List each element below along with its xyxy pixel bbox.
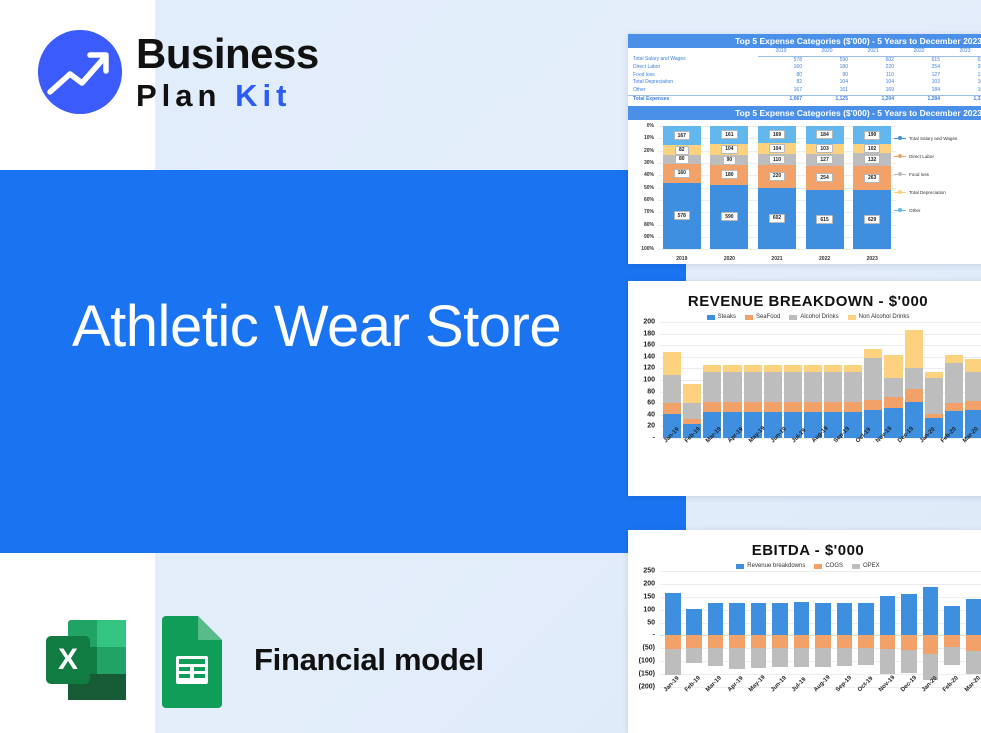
page-title: Athletic Wear Store (72, 292, 592, 363)
legend-item: Non Alcohol Drinks (848, 314, 910, 320)
bar-value-label: 180 (721, 170, 737, 179)
bar-segment: 160 (663, 164, 701, 182)
bar-segment: 578 (663, 183, 701, 250)
legend-item: Other (894, 208, 981, 213)
cell-value: 80 (758, 72, 804, 80)
growth-arrow-icon (38, 30, 122, 114)
brand-name-line2: Plan Kit (136, 80, 319, 111)
y-axis-tick: - (653, 632, 655, 639)
cell-value: 615 (896, 56, 942, 64)
bar-segment (723, 365, 741, 372)
screenshot-card-ebitda: EBITDA - $'000 Revenue breakdownsCOGSOPE… (628, 530, 981, 733)
ebitda-chart-plotarea: 25020015010050-(50)(100)(150)(200) Jan-1… (628, 571, 981, 721)
bar-segment (663, 352, 681, 376)
bar-value-label: 263 (864, 174, 880, 183)
y-axis-tick: 200 (643, 319, 655, 326)
legend-label: Total Salary and Wages (909, 136, 957, 141)
brand-logo: Business Plan Kit (38, 30, 319, 114)
legend-item: Revenue breakdowns (736, 563, 805, 569)
bar-segment (844, 402, 862, 412)
expense-stacked-chart: 0%10%20%30%40%50%60%70%80%90%100% 167828… (628, 120, 981, 264)
bar-value-label: 602 (769, 214, 785, 223)
bar-segment: 629 (853, 190, 891, 249)
microsoft-excel-icon: X (38, 612, 134, 708)
ebitda-chart-title: EBITDA - $'000 (628, 542, 981, 559)
legend-item: Total Depreciation (894, 190, 981, 195)
y-axis-tick: (200) (639, 684, 655, 691)
bar-value-label: 220 (769, 172, 785, 181)
stacked-bar (905, 322, 923, 438)
x-axis-tick: 2021 (758, 256, 796, 262)
bar-group: 1678280160578161104901805901691041102206… (658, 126, 896, 249)
cell-value: 110 (850, 72, 896, 80)
bar-segment: 110 (758, 154, 796, 165)
bar-value-label: 578 (674, 211, 690, 220)
legend-item: Alcohol Drinks (789, 314, 838, 320)
format-badges: X Financial model (38, 612, 484, 708)
legend-swatch (894, 192, 906, 194)
legend-swatch (894, 138, 906, 140)
bar-segment: 80 (663, 155, 701, 164)
stacked-bar (683, 322, 701, 438)
stacked-bar: 16110490180590 (710, 126, 748, 249)
bar-segment (824, 365, 842, 372)
bar-segment (764, 372, 782, 402)
cell-value: 103 (896, 79, 942, 87)
y-axis-tick: 90% (644, 234, 654, 240)
bar-value-label: 110 (769, 155, 785, 164)
cell-value: 132 (942, 72, 981, 80)
y-axis-tick: 100 (643, 606, 655, 613)
bar-segment (905, 330, 923, 368)
bar-segment (744, 372, 762, 402)
bar-segment (744, 402, 762, 412)
y-axis-tick: 50 (647, 619, 655, 626)
y-axis-tick: 250 (643, 568, 655, 575)
legend-item: OPEX (852, 563, 880, 569)
bar-value-label: 254 (816, 173, 832, 182)
bar-segment (784, 365, 802, 372)
bar-segment (884, 355, 902, 378)
bar-segment (884, 378, 902, 398)
bar-segment (824, 372, 842, 402)
bar-segment: 161 (710, 126, 748, 144)
stacked-bar (764, 322, 782, 438)
cell-value: 263 (942, 64, 981, 72)
table-row: Total Expenses1,0671,1251,2041,2841,316 (628, 95, 981, 103)
legend-label: Revenue breakdowns (747, 563, 805, 569)
y-axis-tick: 80% (644, 222, 654, 228)
expense-chart-legend: Total Salary and WagesDirect LaborFood l… (894, 136, 981, 213)
brand-plan-word: Plan (136, 78, 221, 113)
bar-value-label: 104 (721, 145, 737, 154)
ebitda-chart-y-axis: 25020015010050-(50)(100)(150)(200) (628, 571, 658, 687)
cell-value: 104 (850, 79, 896, 87)
slide-canvas: Business Plan Kit Athletic Wear Store X (0, 0, 981, 733)
x-axis-tick: 2019 (663, 256, 701, 262)
bar-segment: 132 (853, 153, 891, 165)
expense-chart-x-axis: 20192020202120222023 (658, 251, 896, 264)
stacked-bar (925, 322, 943, 438)
bar-value-label: 80 (675, 155, 689, 164)
column-header: 2020 (804, 48, 850, 56)
cell-value: 190 (942, 87, 981, 95)
revenue-chart-plotarea: 20018016014012010080604020- Jan-19Feb-19… (628, 322, 981, 472)
cell-value: 220 (850, 64, 896, 72)
financial-model-label: Financial model (254, 642, 484, 678)
cell-value: 1,067 (758, 95, 804, 103)
bar-segment (683, 403, 701, 419)
cell-value: 590 (804, 56, 850, 64)
column-header (628, 48, 758, 56)
screenshot-card-expense: Top 5 Expense Categories ($'000) - 5 Yea… (628, 34, 981, 264)
expense-chart-plot: 1678280160578161104901805901691041102206… (658, 126, 896, 249)
bar-segment: 82 (663, 145, 701, 154)
legend-item: Total Salary and Wages (894, 136, 981, 141)
bar-segment (864, 400, 882, 410)
bar-value-label: 102 (864, 144, 880, 153)
bar-segment: 602 (758, 188, 796, 249)
bar-segment: 180 (710, 165, 748, 185)
legend-swatch (789, 315, 797, 320)
legend-swatch (852, 564, 860, 569)
x-axis-tick: 2020 (710, 256, 748, 262)
stacked-bar (784, 322, 802, 438)
column-header: 2022 (896, 48, 942, 56)
legend-swatch (736, 564, 744, 569)
y-axis-tick: 40 (647, 411, 655, 418)
legend-label: Non Alcohol Drinks (859, 314, 910, 320)
bar-segment: 590 (710, 185, 748, 250)
bar-segment (905, 368, 923, 389)
stacked-bar (824, 322, 842, 438)
bar-value-label: 82 (675, 146, 689, 155)
ebitda-chart-plot (660, 571, 981, 687)
legend-item: SeaFood (745, 314, 780, 320)
revenue-chart-title: REVENUE BREAKDOWN - $'000 (628, 293, 981, 310)
y-axis-tick: 10% (644, 135, 654, 141)
legend-label: Steaks (718, 314, 736, 320)
legend-label: OPEX (863, 563, 880, 569)
stacked-bar: 169104110220602 (758, 126, 796, 249)
bar-segment: 90 (710, 155, 748, 165)
bar-segment: 127 (806, 154, 844, 166)
cell-value: 104 (804, 79, 850, 87)
y-axis-tick: 100 (643, 377, 655, 384)
bar-segment (905, 389, 923, 402)
y-axis-tick: 20 (647, 423, 655, 430)
legend-label: COGS (825, 563, 843, 569)
bar-value-label: 90 (723, 156, 737, 165)
bar-segment (703, 402, 721, 412)
revenue-chart-legend: SteaksSeaFoodAlcohol DrinksNon Alcohol D… (628, 314, 981, 320)
stacked-bar (945, 322, 963, 438)
bar-segment (804, 402, 822, 412)
y-axis-tick: 140 (643, 353, 655, 360)
legend-label: Direct Labor (909, 154, 934, 159)
legend-swatch (848, 315, 856, 320)
cell-value: 1,204 (850, 95, 896, 103)
cell-value: 629 (942, 56, 981, 64)
bar-segment: 615 (806, 190, 844, 249)
screenshot-card-revenue: REVENUE BREAKDOWN - $'000 SteaksSeaFoodA… (628, 281, 981, 496)
ebitda-chart-legend: Revenue breakdownsCOGSOPEX (628, 563, 981, 569)
expense-table: 20192020202120222023Total Salary and Wag… (628, 48, 981, 103)
bar-segment: 254 (806, 166, 844, 190)
legend-item: Food loss (894, 172, 981, 177)
row-label: Total Depreciation (628, 79, 758, 87)
bar-value-label: 132 (864, 155, 880, 164)
bar-segment (945, 363, 963, 402)
y-axis-tick: (50) (643, 645, 655, 652)
cell-value: 161 (804, 87, 850, 95)
legend-swatch (894, 156, 906, 158)
y-axis-tick: 150 (643, 593, 655, 600)
revenue-chart-x-axis: Jan-19Feb-19Mar-19Apr-19May-19Jun-19Jul-… (660, 438, 981, 472)
bar-segment: 169 (758, 126, 796, 143)
legend-label: SeaFood (756, 314, 780, 320)
legend-label: Total Depreciation (909, 190, 946, 195)
stacked-bar: 190102132263629 (853, 126, 891, 249)
bar-value-label: 615 (816, 215, 832, 224)
bar-segment: 263 (853, 166, 891, 191)
cell-value: 578 (758, 56, 804, 64)
legend-item: Direct Labor (894, 154, 981, 159)
bar-segment (824, 402, 842, 412)
bar-segment (764, 402, 782, 412)
bar-value-label: 103 (816, 144, 832, 153)
y-axis-tick: 40% (644, 172, 654, 178)
bar-value-label: 629 (864, 215, 880, 224)
bar-segment (764, 365, 782, 372)
svg-text:X: X (58, 643, 78, 676)
column-header: 2019 (758, 48, 804, 56)
y-axis-tick: 180 (643, 330, 655, 337)
row-label: Direct Labor (628, 64, 758, 72)
bar-segment: 103 (806, 144, 844, 154)
bar-segment (945, 403, 963, 411)
cell-value: 90 (804, 72, 850, 80)
bar-segment (965, 359, 981, 372)
bar-segment (965, 401, 981, 410)
row-label: Total Salary and Wages (628, 56, 758, 64)
cell-value: 1,284 (896, 95, 942, 103)
legend-item: Steaks (707, 314, 736, 320)
bar-value-label: 127 (816, 155, 832, 164)
table-header-row: 20192020202120222023 (628, 48, 981, 56)
bar-segment: 220 (758, 165, 796, 187)
table-row: Other167161169184190 (628, 87, 981, 95)
legend-label: Alcohol Drinks (800, 314, 838, 320)
cell-value: 160 (758, 64, 804, 72)
cell-value: 254 (896, 64, 942, 72)
stacked-bar (703, 322, 721, 438)
bar-segment: 167 (663, 126, 701, 145)
bar-segment (965, 372, 981, 401)
legend-swatch (745, 315, 753, 320)
bar-segment (804, 365, 822, 372)
y-axis-tick: 0% (647, 123, 654, 129)
x-axis-tick: 2023 (853, 256, 891, 262)
stacked-bar: 1678280160578 (663, 126, 701, 249)
row-label: Other (628, 87, 758, 95)
bar-segment (864, 358, 882, 400)
cell-value: 1,125 (804, 95, 850, 103)
bar-segment: 102 (853, 144, 891, 154)
brand-kit-word: Kit (235, 78, 291, 113)
bar-value-label: 169 (769, 130, 785, 139)
cell-value: 184 (896, 87, 942, 95)
legend-label: Food loss (909, 172, 929, 177)
revenue-chart-plot (660, 322, 981, 438)
bar-segment (744, 365, 762, 372)
y-axis-tick: 20% (644, 148, 654, 154)
bar-segment (703, 372, 721, 402)
bar-segment (784, 372, 802, 402)
bar-segment (844, 365, 862, 372)
bar-segment (884, 397, 902, 407)
stacked-bar (864, 322, 882, 438)
table-row: Total Salary and Wages578590602615629 (628, 56, 981, 64)
y-axis-tick: 50% (644, 185, 654, 191)
bar-segment (925, 378, 943, 414)
y-axis-tick: 120 (643, 365, 655, 372)
cell-value: 180 (804, 64, 850, 72)
revenue-chart-y-axis: 20018016014012010080604020- (628, 322, 658, 438)
bar-value-label: 167 (674, 131, 690, 140)
bar-segment (804, 372, 822, 402)
bar-segment (703, 365, 721, 372)
expense-chart-y-axis: 0%10%20%30%40%50%60%70%80%90%100% (628, 126, 656, 249)
table-row: Total Depreciation82104104103102 (628, 79, 981, 87)
table-row: Direct Labor160180220254263 (628, 64, 981, 72)
expense-chart-title: Top 5 Expense Categories ($'000) - 5 Yea… (628, 106, 981, 120)
google-sheets-icon (156, 612, 228, 708)
y-axis-tick: 80 (647, 388, 655, 395)
bar-segment (945, 355, 963, 363)
column-header: 2021 (850, 48, 896, 56)
bar-segment: 104 (758, 143, 796, 154)
legend-label: Other (909, 208, 921, 213)
legend-swatch (814, 564, 822, 569)
stacked-bar: 184103127254615 (806, 126, 844, 249)
cell-value: 102 (942, 79, 981, 87)
bar-segment: 104 (710, 144, 748, 155)
y-axis-tick: 60% (644, 197, 654, 203)
bar-value-label: 161 (721, 130, 737, 139)
stacked-bar (965, 322, 981, 438)
bar-segment (723, 402, 741, 412)
cell-value: 169 (850, 87, 896, 95)
bar-segment (663, 403, 681, 413)
cell-value: 602 (850, 56, 896, 64)
stacked-bar (663, 322, 681, 438)
y-axis-tick: 60 (647, 400, 655, 407)
stacked-bar (844, 322, 862, 438)
cell-value: 82 (758, 79, 804, 87)
row-label: Food loss (628, 72, 758, 80)
y-axis-tick: (100) (639, 658, 655, 665)
bar-value-label: 184 (816, 130, 832, 139)
bar-segment (663, 375, 681, 403)
grid-line (658, 249, 896, 250)
stacked-bar (723, 322, 741, 438)
cell-value: 127 (896, 72, 942, 80)
y-axis-tick: 100% (641, 246, 654, 252)
bar-segment (683, 384, 701, 403)
bar-value-label: 190 (864, 131, 880, 140)
stacked-bar (884, 322, 902, 438)
y-axis-tick: 70% (644, 209, 654, 215)
y-axis-tick: (150) (639, 671, 655, 678)
cell-value: 1,316 (942, 95, 981, 103)
stacked-bar (744, 322, 762, 438)
table-row: Food loss8090110127132 (628, 72, 981, 80)
y-axis-tick: 200 (643, 580, 655, 587)
brand-name-line1: Business (136, 33, 319, 75)
bar-value-label: 590 (721, 212, 737, 221)
bar-segment (784, 402, 802, 412)
row-label: Total Expenses (628, 95, 758, 103)
bar-segment: 190 (853, 126, 891, 144)
bar-segment: 184 (806, 126, 844, 144)
cell-value: 167 (758, 87, 804, 95)
ebitda-chart-x-axis: Jan-19Feb-19Mar-19Apr-19May-19Jun-19Jul-… (660, 687, 981, 721)
legend-item: COGS (814, 563, 843, 569)
legend-swatch (894, 210, 906, 212)
legend-swatch (707, 315, 715, 320)
bar-value-label: 104 (769, 144, 785, 153)
x-axis-tick: 2022 (806, 256, 844, 262)
y-axis-tick: 160 (643, 342, 655, 349)
bar-value-label: 160 (674, 169, 690, 178)
legend-swatch (894, 174, 906, 176)
expense-table-title: Top 5 Expense Categories ($'000) - 5 Yea… (628, 34, 981, 48)
bar-segment (723, 372, 741, 402)
column-header: 2023 (942, 48, 981, 56)
bar-group (660, 322, 981, 438)
y-axis-tick: - (653, 435, 655, 442)
y-axis-tick: 30% (644, 160, 654, 166)
stacked-bar (804, 322, 822, 438)
bar-segment (844, 372, 862, 402)
bar-segment (864, 349, 882, 358)
